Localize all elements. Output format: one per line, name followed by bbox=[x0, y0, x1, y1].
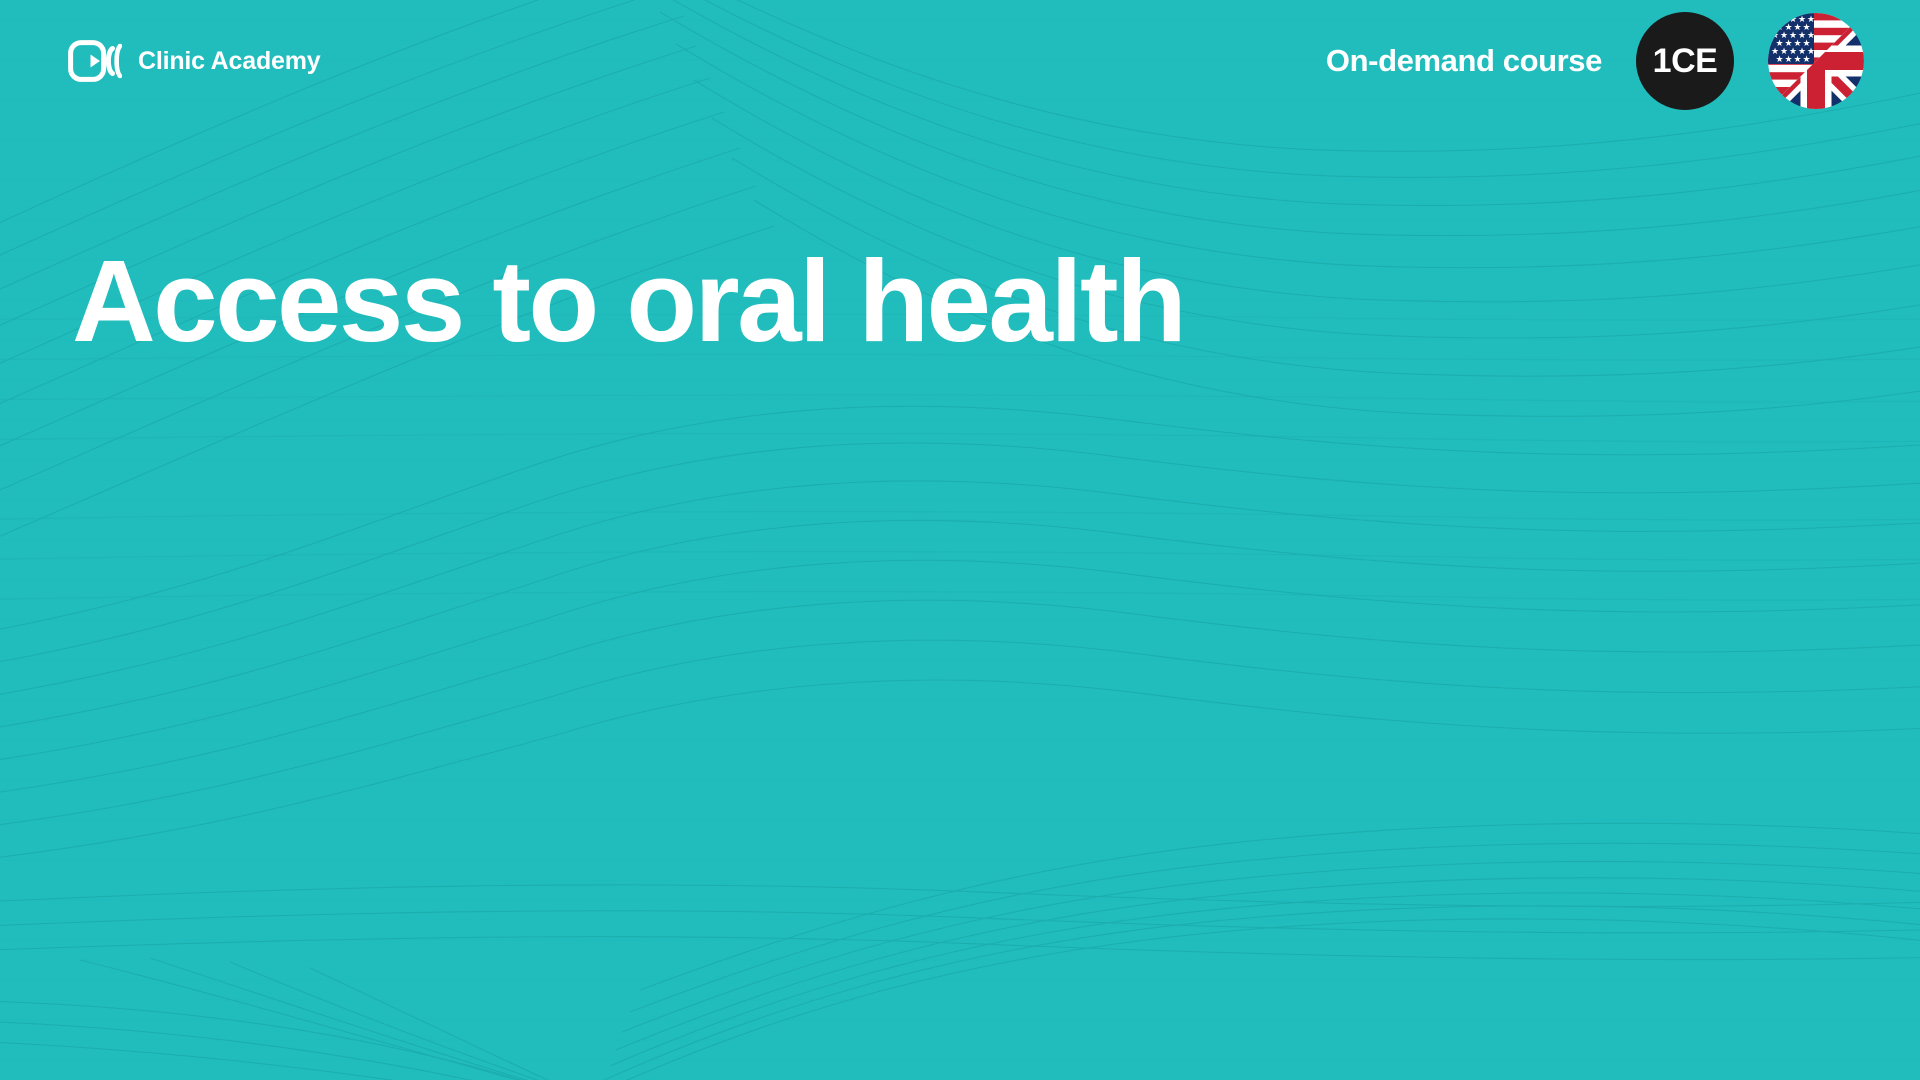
header-meta: On-demand course 1CE bbox=[1326, 12, 1864, 110]
title-block: Access to oral health bbox=[72, 240, 1572, 363]
credit-badge: 1CE bbox=[1636, 12, 1734, 110]
course-title-slide: Clinic Academy On-demand course 1CE bbox=[0, 0, 1920, 1080]
brand-lockup: Clinic Academy bbox=[68, 40, 320, 82]
slide-header: Clinic Academy On-demand course 1CE bbox=[0, 0, 1920, 200]
svg-text:★: ★ bbox=[1794, 54, 1802, 64]
svg-text:★: ★ bbox=[1780, 14, 1788, 24]
svg-text:★: ★ bbox=[1776, 54, 1784, 64]
video-camera-play-icon bbox=[68, 40, 122, 82]
svg-text:★: ★ bbox=[1771, 14, 1779, 24]
us-uk-flag-icon: ★★★ ★★ ★★ ★★ ★★★ ★★ ★★ ★★ ★★★ ★★ ★★ ★★ bbox=[1768, 13, 1864, 109]
svg-text:★: ★ bbox=[1785, 54, 1793, 64]
page-title: Access to oral health bbox=[72, 240, 1572, 363]
brand-name: Clinic Academy bbox=[138, 47, 320, 76]
svg-text:★: ★ bbox=[1803, 54, 1811, 64]
course-type-label: On-demand course bbox=[1326, 43, 1602, 79]
credit-badge-label: 1CE bbox=[1653, 44, 1718, 78]
